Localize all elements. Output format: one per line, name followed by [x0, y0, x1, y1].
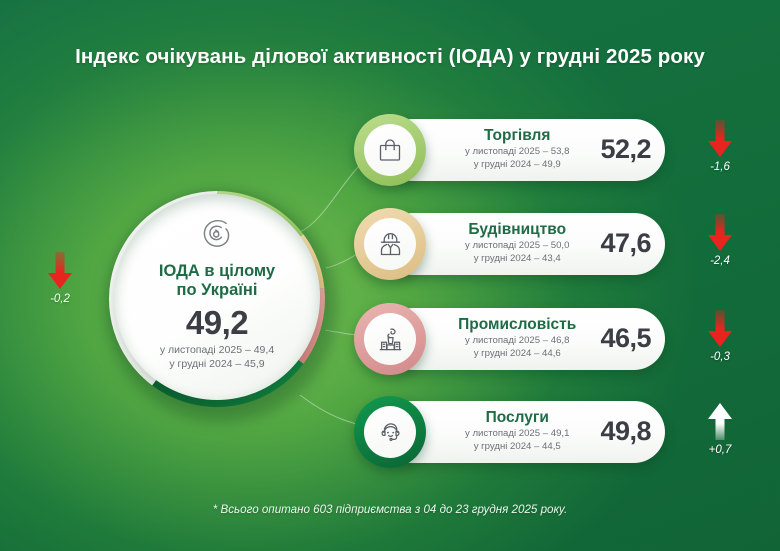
donut-center: ІОДА в цілому по Україні 49,2 у листопад…: [114, 194, 320, 400]
shopping-bag-icon: [377, 137, 403, 163]
sector-prev-year-industry: у грудні 2024 – 44,6: [474, 348, 561, 359]
sector-value-industry: 46,5: [600, 323, 651, 354]
page-title: Індекс очікувань ділової активності (ІОД…: [0, 45, 780, 69]
footnote: * Всього опитано 603 підприємства з 04 д…: [0, 503, 780, 516]
builder-helmet-icon: [377, 231, 404, 258]
sector-value-trade: 52,2: [600, 134, 651, 165]
sector-prev-month-trade: у листопаді 2025 – 53,8: [465, 146, 569, 157]
support-operator-icon: [377, 419, 404, 446]
sector-delta-construction: -2,4: [682, 214, 758, 267]
overall-delta: -0,2: [22, 252, 98, 305]
sector-value-construction: 47,6: [600, 228, 651, 259]
sector-title-construction: Будівництво: [438, 222, 596, 238]
overall-delta-label: -0,2: [22, 293, 98, 305]
sector-card-industry[interactable]: Промисловість у листопаді 2025 – 46,8 у …: [382, 308, 665, 370]
sector-delta-services: +0,7: [682, 403, 758, 456]
sector-delta-label-construction: -2,4: [682, 255, 758, 267]
donut-prev-month: у листопаді 2025 – 49,4: [160, 344, 274, 356]
sector-title-trade: Торгівля: [438, 128, 596, 144]
nbu-spiral-logo-icon: [196, 216, 238, 256]
sector-card-trade[interactable]: Торгівля у листопаді 2025 – 53,8 у грудн…: [382, 119, 665, 181]
sector-delta-label-trade: -1,6: [682, 161, 758, 173]
sector-icon-disc-trade: [364, 124, 416, 176]
sector-icon-disc-industry: [364, 313, 416, 365]
sector-icon-badge-trade: [354, 114, 426, 186]
factory-icon: [377, 326, 404, 353]
sector-icon-badge-construction: [354, 208, 426, 280]
donut-label-line1: ІОДА в цілому: [159, 262, 275, 280]
sector-prev-month-services: у листопаді 2025 – 49,1: [465, 428, 569, 439]
arrow-down-icon: [47, 252, 73, 290]
donut-label-line2: по Україні: [177, 281, 258, 299]
sector-title-services: Послуги: [438, 410, 596, 426]
sector-card-construction[interactable]: Будівництво у листопаді 2025 – 50,0 у гр…: [382, 213, 665, 275]
sector-prev-year-construction: у грудні 2024 – 43,4: [474, 253, 561, 264]
sector-delta-label-industry: -0,3: [682, 351, 758, 363]
arrow-down-icon: [707, 214, 733, 252]
donut-prev-year: у грудні 2024 – 45,9: [169, 358, 264, 370]
infographic-canvas: Індекс очікувань ділової активності (ІОД…: [0, 0, 780, 551]
donut-value: 49,2: [186, 306, 248, 339]
sector-delta-label-services: +0,7: [682, 444, 758, 456]
sector-prev-month-industry: у листопаді 2025 – 46,8: [465, 335, 569, 346]
sector-icon-badge-services: [354, 396, 426, 468]
sector-value-services: 49,8: [600, 416, 651, 447]
sector-title-industry: Промисловість: [438, 317, 596, 333]
arrow-down-icon: [707, 310, 733, 348]
overall-donut: ІОДА в цілому по Україні 49,2 у листопад…: [101, 183, 333, 415]
sector-delta-trade: -1,6: [682, 120, 758, 173]
sector-card-services[interactable]: Послуги у листопаді 2025 – 49,1 у грудні…: [382, 401, 665, 463]
sector-prev-month-construction: у листопаді 2025 – 50,0: [465, 240, 569, 251]
arrow-down-icon: [707, 120, 733, 158]
sector-prev-year-services: у грудні 2024 – 44,5: [474, 441, 561, 452]
sector-prev-year-trade: у грудні 2024 – 49,9: [474, 159, 561, 170]
sector-delta-industry: -0,3: [682, 310, 758, 363]
sector-icon-disc-services: [364, 406, 416, 458]
arrow-up-icon: [707, 403, 733, 441]
sector-icon-badge-industry: [354, 303, 426, 375]
sector-icon-disc-construction: [364, 218, 416, 270]
